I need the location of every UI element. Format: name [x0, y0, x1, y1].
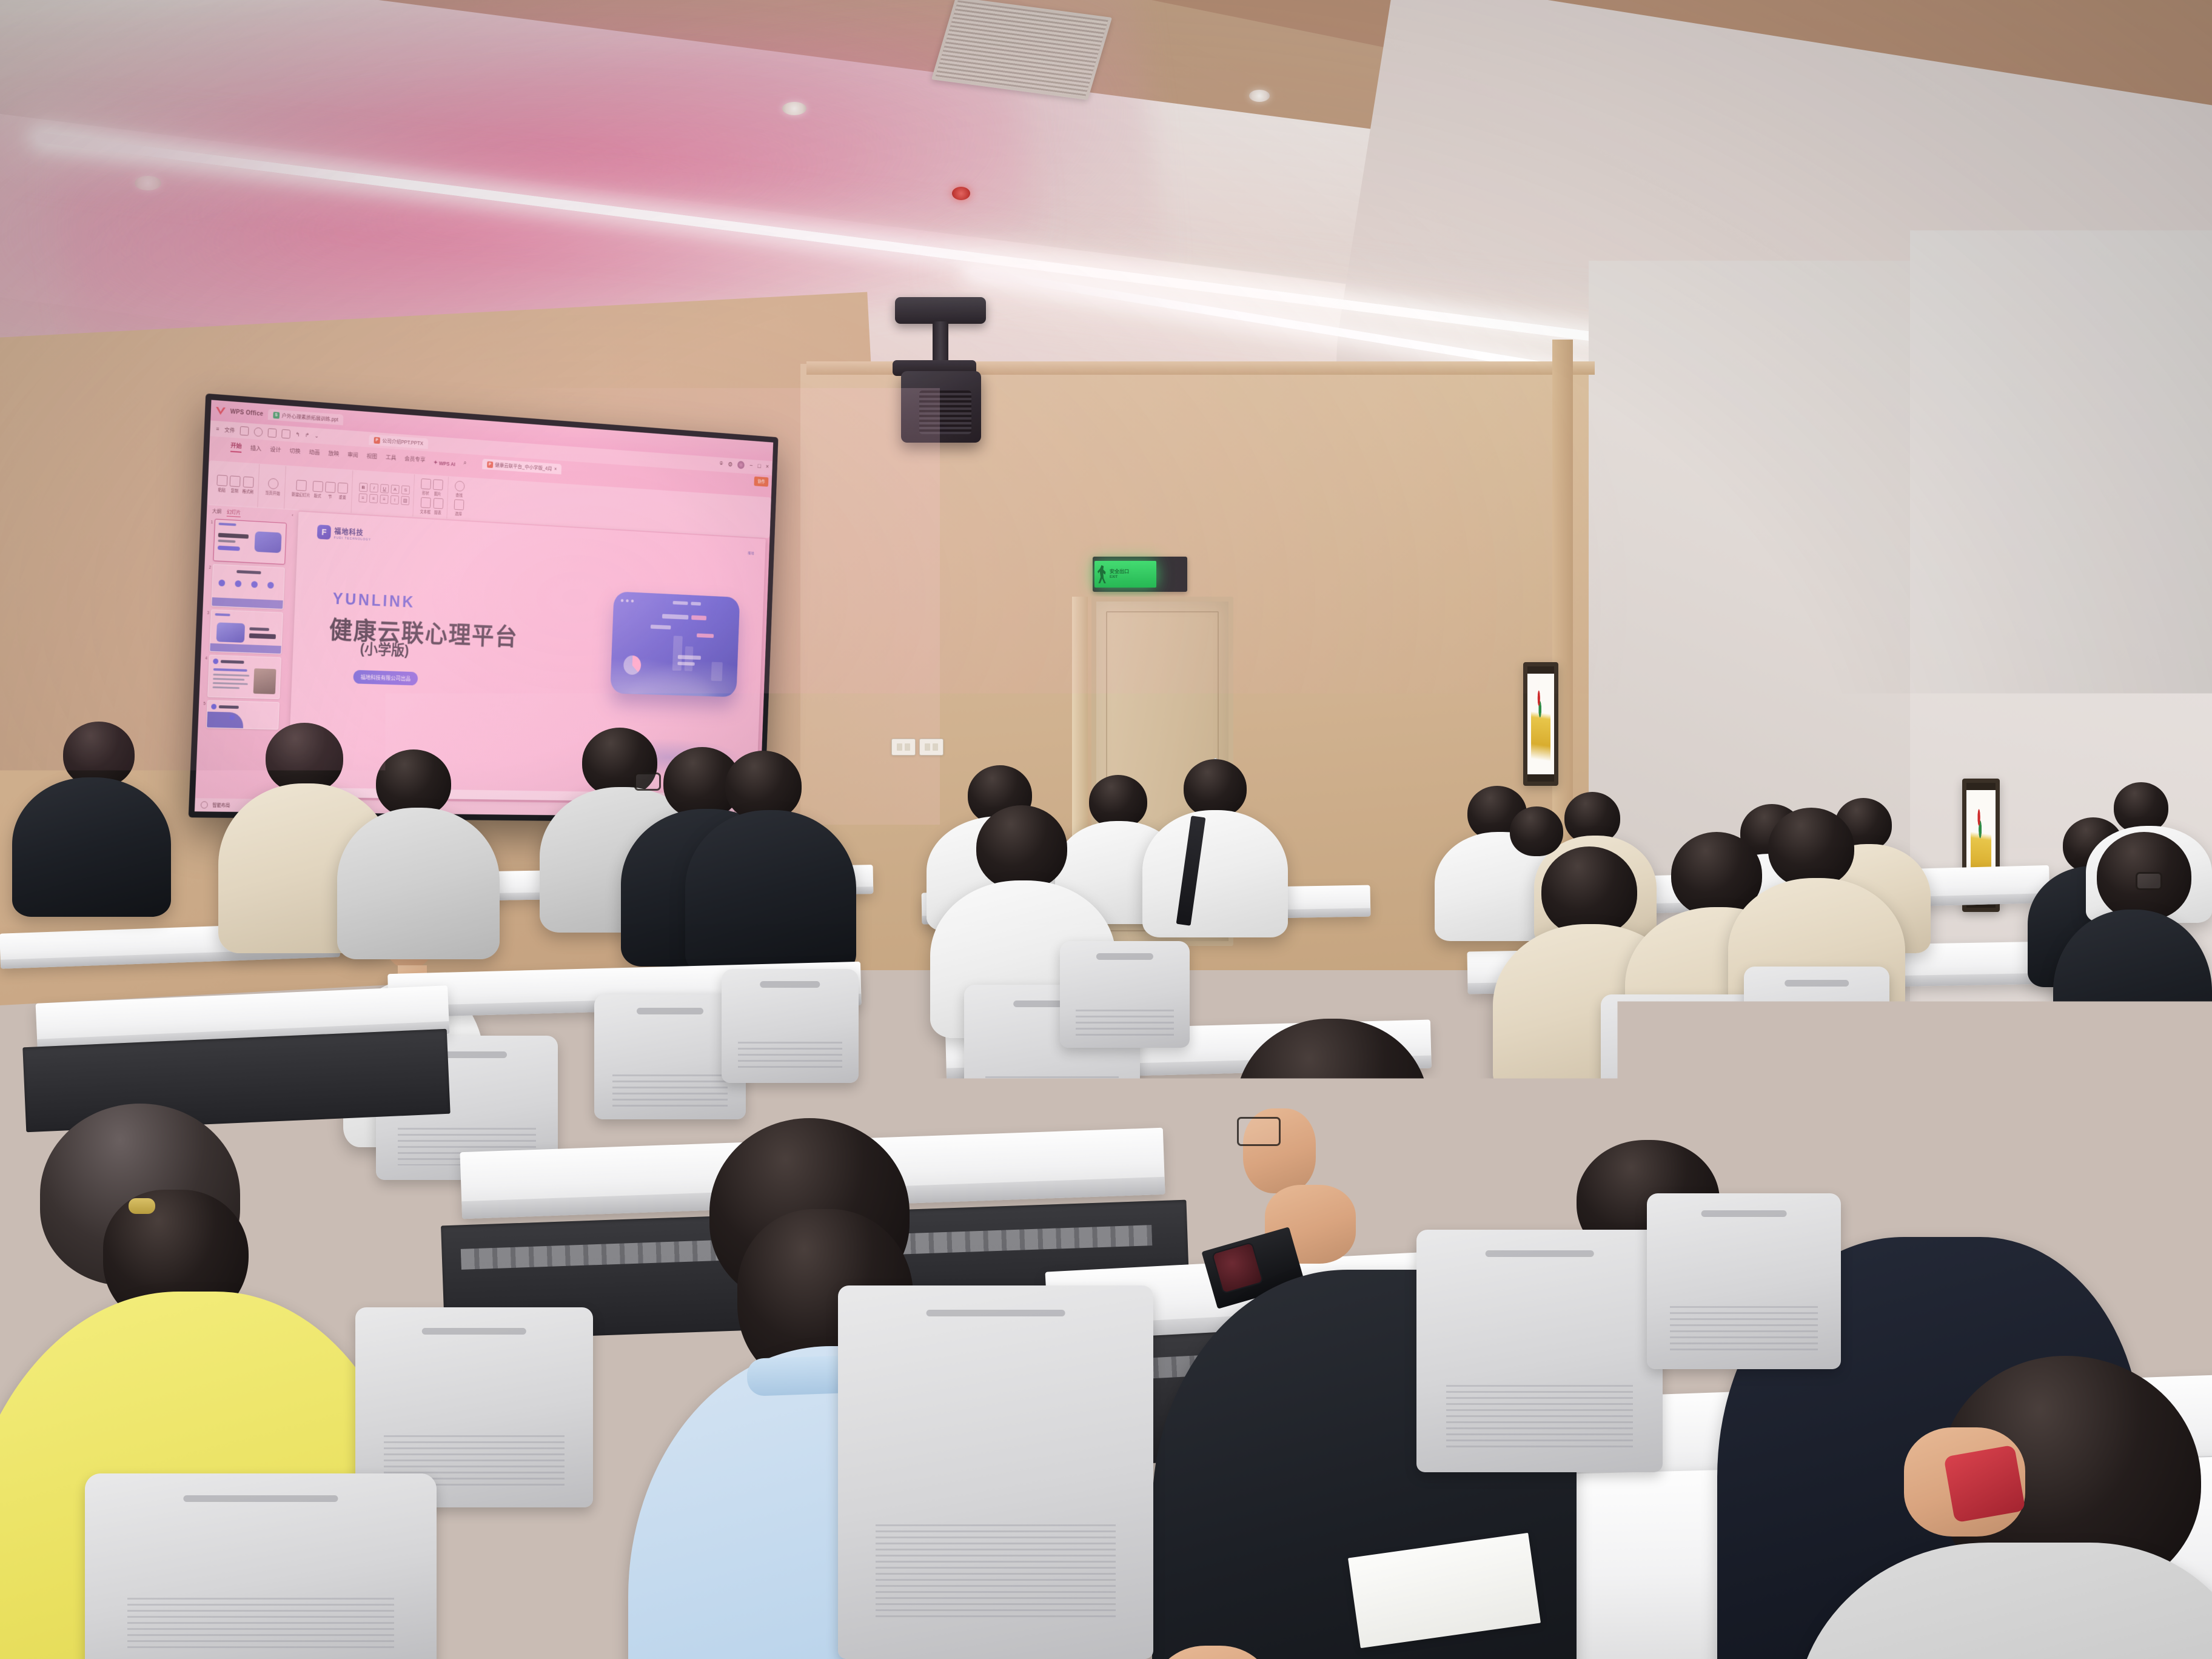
photo-scene: WPS Office S 户外心理素质拓展训练.ppt ≡ 文件 ↰ ↱ [0, 0, 2212, 1659]
file-menu[interactable]: 文件 [224, 425, 235, 434]
print-icon[interactable] [268, 428, 277, 438]
downlight-icon [135, 176, 161, 190]
layout-button[interactable]: 版式 [312, 481, 323, 498]
slide-thumbnail[interactable] [207, 655, 281, 699]
ai-sparkle-icon: ✦ [434, 460, 438, 466]
document-tab-2[interactable]: P 公司介绍PPT.PPTX [369, 434, 428, 449]
search-icon [454, 480, 464, 491]
picture-button[interactable]: 图片 [433, 479, 443, 497]
slide-thumbnail[interactable] [211, 564, 285, 609]
slides-red-icon: P [374, 437, 380, 443]
slide-eyebrow: YUNLINK [332, 589, 415, 611]
chair[interactable] [838, 1285, 1153, 1659]
wps-logo-icon [215, 407, 226, 415]
redo-icon[interactable]: ↱ [305, 432, 310, 438]
new-slide-icon [296, 480, 307, 491]
close-button[interactable]: × [766, 463, 769, 470]
help-icon[interactable]: ⌾ [720, 460, 723, 467]
undo-icon[interactable]: ↰ [295, 431, 300, 438]
thumbnail-row[interactable]: 4 [201, 654, 290, 699]
attendee-head [1768, 808, 1854, 888]
ribbon-tab-animations[interactable]: 动画 [309, 447, 320, 458]
ribbon-tab-home[interactable]: 开始 [230, 441, 242, 453]
exit-cn-label: 安全出口 [1110, 569, 1129, 574]
fudi-logo-icon: F [317, 525, 331, 540]
attendee-body [2053, 910, 2212, 1079]
ribbon-group-editing: 查找 选择 [449, 477, 468, 520]
save-icon[interactable] [240, 426, 249, 435]
find-label: 查找 [455, 491, 463, 497]
chair[interactable] [1744, 967, 1889, 1088]
chair[interactable] [722, 969, 859, 1083]
textbox-label: 文本框 [420, 508, 431, 515]
slide-logo: F 福地科技 FUDI TECHNOLOGY [317, 525, 372, 541]
projector-ceiling-plate [895, 297, 986, 324]
status-label: 智能布局 [212, 802, 230, 808]
wps-ai-button[interactable]: ✦ WPS AI [434, 460, 455, 468]
thumbnail-row[interactable]: 2 [205, 564, 295, 610]
play-icon [267, 478, 278, 489]
minimize-button[interactable]: − [749, 462, 753, 469]
ribbon-tab-tools[interactable]: 工具 [386, 452, 397, 463]
ribbon-group-insert: 形状 图片 文本框 图表 [416, 475, 449, 518]
slide-subtitle: (小学版) [360, 637, 409, 660]
copy-button[interactable]: 复制 [229, 475, 240, 494]
smart-layout-icon[interactable] [201, 801, 208, 808]
thumbnail-row[interactable]: 1 [207, 518, 297, 565]
document-tab-3[interactable]: P 健康云联平台_中小学版_4月 × [482, 458, 562, 474]
picture-label: 图片 [434, 490, 441, 496]
thumbnail-number: 3 [204, 609, 209, 615]
start-label: 当页开始 [265, 489, 280, 495]
document-tab-1[interactable]: S 户外心理素质拓展训练.ppt [268, 409, 344, 426]
pane-tab-outline[interactable]: 大纲 [212, 508, 222, 516]
copy-label: 复制 [231, 487, 239, 494]
slides-red-icon: P [487, 461, 493, 468]
underline-button[interactable]: U [380, 484, 389, 493]
ai-button-label: WPS AI [439, 460, 455, 467]
wps-brand-label: WPS Office [230, 408, 264, 417]
projector-stem [933, 321, 948, 364]
share-button[interactable]: 协作 [754, 477, 768, 487]
align-right-icon[interactable]: ≡ [380, 494, 388, 503]
ribbon-tab-transitions[interactable]: 切换 [289, 446, 301, 457]
columns-icon[interactable]: ▥ [401, 495, 409, 504]
ribbon-group-present: 当页开始 [261, 464, 286, 509]
projector-vent-grille [919, 390, 971, 434]
paste-icon [216, 474, 227, 486]
bold-button[interactable]: B [359, 482, 367, 491]
chart-icon [433, 498, 443, 509]
downlight-icon [782, 102, 806, 115]
slide-thumbnail[interactable] [206, 700, 280, 730]
slide-corner-mark: 福地 [748, 550, 754, 555]
section-label: 节 [328, 493, 332, 499]
attendee-head [1089, 775, 1147, 828]
ribbon-tab-slideshow[interactable]: 放映 [328, 449, 339, 460]
paste-button[interactable]: 粘贴 [216, 474, 228, 492]
reset-button[interactable]: 重置 [337, 482, 348, 500]
exit-sign-text: 安全出口 EXIT [1110, 569, 1129, 580]
select-button[interactable]: 选择 [454, 499, 464, 517]
running-man-icon [1097, 565, 1108, 583]
section-icon [325, 481, 335, 493]
hamburger-icon[interactable]: ≡ [216, 426, 219, 432]
slides-green-icon: S [273, 412, 280, 419]
attendee-head [1510, 806, 1563, 856]
settings-icon[interactable]: ⚙ [728, 460, 733, 468]
chair[interactable] [85, 1473, 437, 1659]
attendee-head [976, 805, 1067, 890]
slide-thumbnail[interactable] [213, 519, 287, 565]
document-tab-label: 健康云联平台_中小学版_4月 [495, 461, 552, 472]
format-painter-button[interactable]: 格式刷 [242, 476, 254, 494]
document-tab-label: 公司介绍PPT.PPTX [382, 437, 423, 447]
strikethrough-button[interactable]: S [401, 485, 410, 494]
thumbnail-number: 1 [208, 518, 213, 525]
format-painter-label: 格式刷 [242, 488, 253, 494]
select-icon [454, 499, 464, 510]
wall-socket[interactable] [919, 739, 943, 756]
thumbnail-number: 4 [203, 654, 207, 660]
close-icon[interactable]: × [554, 466, 557, 472]
slide-thumbnail[interactable] [209, 609, 283, 654]
chair[interactable] [1601, 994, 1768, 1131]
ribbon-group-font: B I U A S ≡ ≡ ≡ ↕ ▥ [354, 471, 415, 517]
text-effects-button[interactable]: A [390, 484, 399, 494]
exit-sign: 安全出口 EXIT [1093, 557, 1187, 592]
wall-socket[interactable] [891, 739, 916, 756]
thumbnail-number: 2 [206, 564, 211, 570]
attendee-head [266, 723, 343, 793]
italic-button[interactable]: I [370, 483, 378, 492]
search-icon[interactable]: ⌕ [463, 460, 466, 468]
chair[interactable] [1647, 1193, 1841, 1369]
picture-icon [433, 479, 443, 490]
textbox-button[interactable]: 文本框 [420, 497, 431, 514]
thumbnail-row[interactable]: 5 [199, 700, 289, 729]
thumbnail-row[interactable]: 3 [203, 609, 293, 655]
print-preview-icon[interactable] [282, 429, 291, 438]
ribbon-tab-review[interactable]: 审阅 [347, 450, 358, 461]
attendee-body [1142, 810, 1288, 937]
format-painter-icon [243, 476, 253, 488]
smoke-detector-icon [952, 187, 970, 200]
slide-illustration [610, 591, 740, 697]
attendee-body [12, 777, 171, 917]
shapes-button[interactable]: 形状 [421, 478, 431, 496]
bird-painting-left [1523, 662, 1558, 786]
chevron-down-icon[interactable]: ⌄ [314, 432, 319, 439]
chair[interactable] [1416, 1230, 1663, 1472]
align-center-icon[interactable]: ≡ [369, 494, 378, 503]
line-spacing-icon[interactable]: ↕ [390, 495, 399, 504]
ceiling-projector [895, 297, 986, 324]
copy-icon [230, 475, 241, 487]
start-from-current-button[interactable]: 当页开始 [265, 478, 281, 496]
chart-label: 图表 [434, 509, 441, 515]
document-tab-label: 户外心理素质拓展训练.ppt [281, 412, 338, 423]
select-label: 选择 [455, 510, 462, 516]
attendee-body [337, 808, 500, 959]
chart-button[interactable]: 图表 [433, 498, 443, 515]
collapse-pane-icon[interactable]: ‹ [292, 512, 293, 520]
glasses-icon [2136, 872, 2162, 890]
ribbon-group-clipboard: 粘贴 复制 格式刷 [212, 461, 259, 508]
attendee-body [685, 810, 856, 974]
thumbnail-number: 5 [201, 700, 206, 706]
section-button[interactable]: 节 [325, 481, 336, 499]
layout-icon [313, 481, 324, 492]
textbox-icon [421, 497, 431, 508]
new-slide-label: 新建幻灯片 [292, 491, 310, 498]
reset-icon [338, 482, 348, 494]
projector-body [901, 371, 981, 443]
slide-title: 健康云联心理平台 [329, 609, 518, 652]
paste-label: 粘贴 [218, 486, 226, 492]
ribbon-tab-design[interactable]: 设计 [270, 444, 281, 455]
align-left-icon[interactable]: ≡ [358, 493, 367, 502]
avatar[interactable] [737, 461, 745, 469]
cloud-sync-icon[interactable] [254, 427, 263, 437]
ribbon-tab-member[interactable]: 会员专享 [404, 454, 426, 465]
slide-company-pill: 福地科技有限公司出品 [353, 670, 418, 686]
shapes-icon [421, 478, 431, 489]
layout-label: 版式 [313, 492, 321, 498]
hair-tie [129, 1198, 155, 1214]
shapes-label: 形状 [422, 489, 429, 495]
ribbon-tab-view[interactable]: 视图 [366, 451, 377, 462]
red-phone-case [1943, 1445, 2025, 1523]
exit-en-label: EXIT [1110, 575, 1118, 579]
find-button[interactable]: 查找 [454, 480, 464, 498]
ribbon-tab-insert[interactable]: 插入 [250, 443, 262, 454]
chair[interactable] [1060, 941, 1190, 1048]
reset-label: 重置 [339, 494, 346, 500]
maximize-button[interactable]: □ [757, 463, 761, 469]
glasses-icon [1237, 1117, 1281, 1146]
attendee-head [1184, 759, 1247, 817]
exit-sign-panel: 安全出口 EXIT [1094, 561, 1156, 588]
attendee-head [1541, 846, 1637, 936]
downlight-icon [1249, 90, 1270, 102]
ribbon-group-slides: 新建幻灯片 版式 节 重置 [287, 466, 353, 513]
pane-tab-slides[interactable]: 幻灯片 [227, 509, 241, 517]
new-slide-button[interactable]: 新建幻灯片 [292, 479, 311, 497]
glasses-icon [634, 773, 661, 791]
